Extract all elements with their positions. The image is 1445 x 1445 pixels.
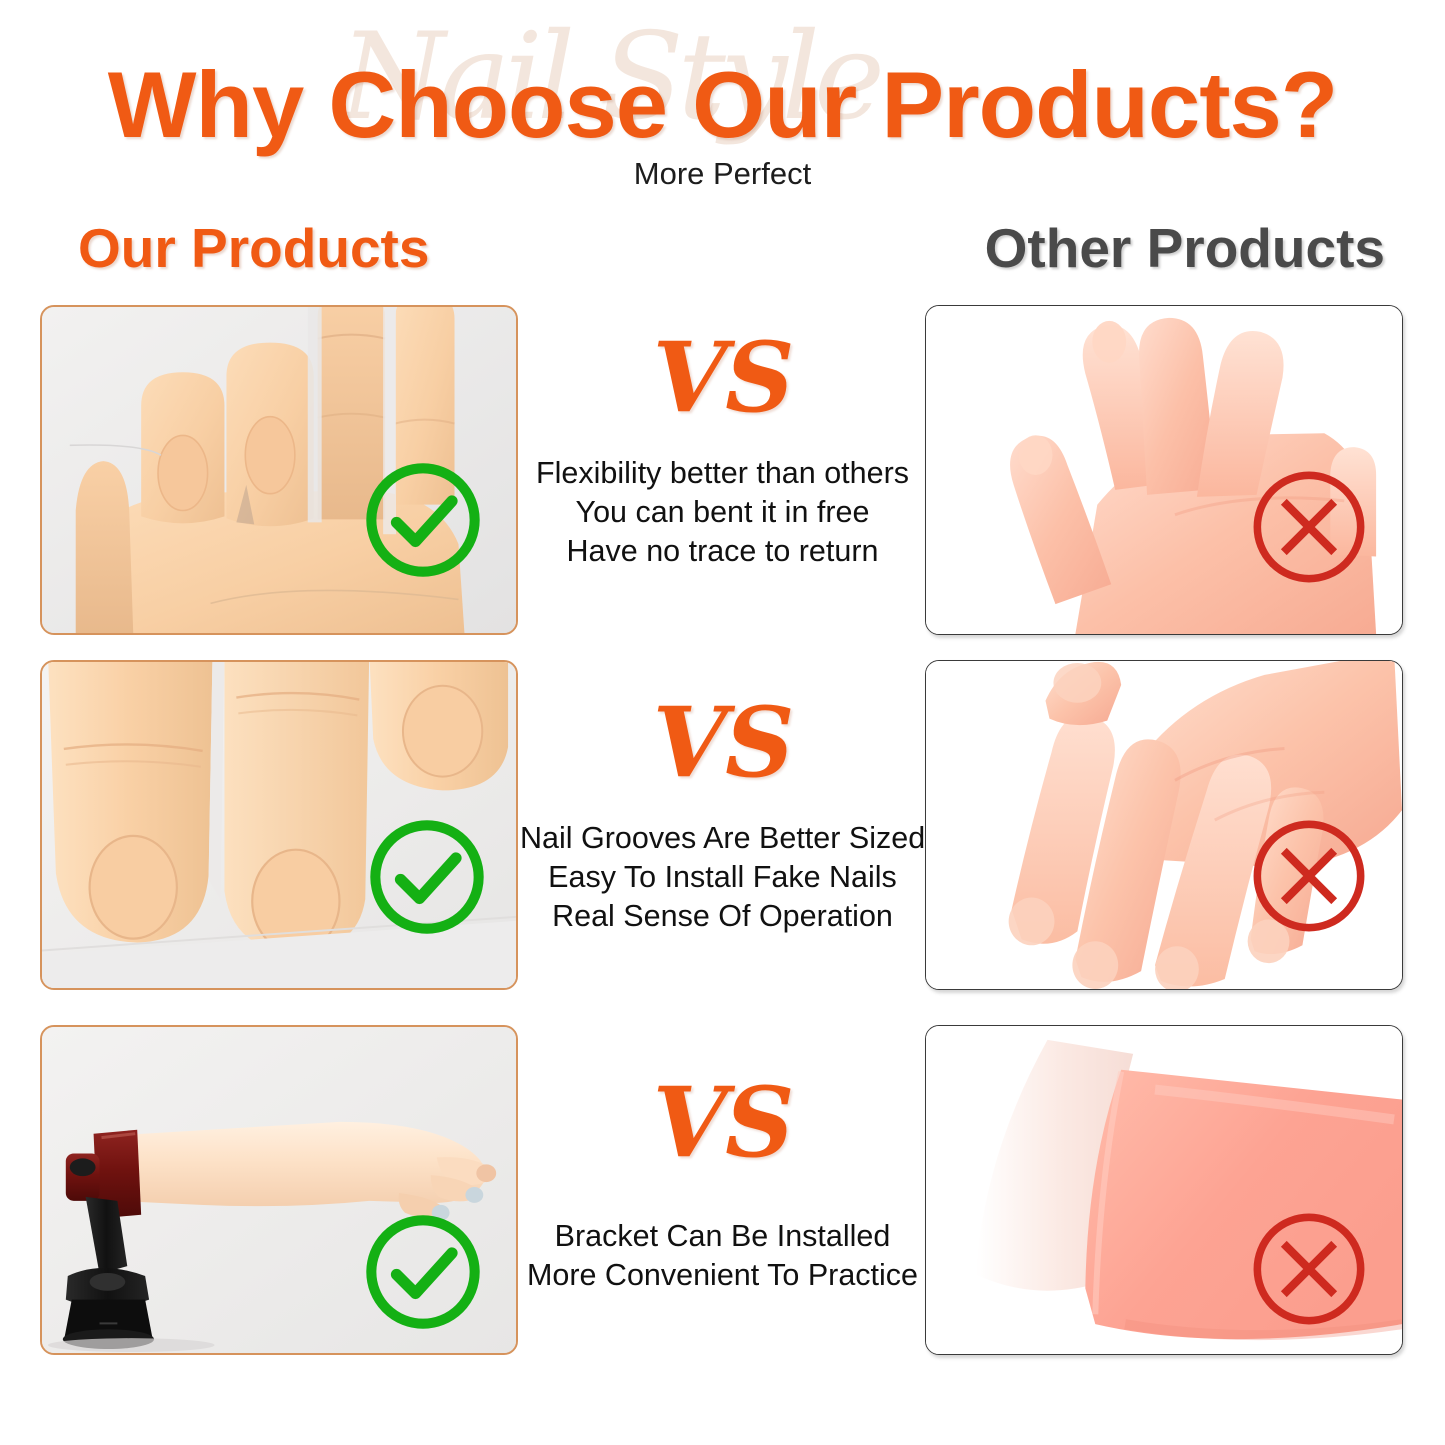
our-product-card-row1 (40, 305, 518, 635)
infographic-page: Nail Style Why Choose Our Products? More… (0, 0, 1445, 1445)
red-cross-circle-badge (1246, 464, 1372, 590)
comparison-line: Have no trace to return (520, 532, 925, 571)
comparison-row2-middle: VS Nail Grooves Are Better Sized Easy To… (520, 695, 925, 936)
our-product-card-row3 (40, 1025, 518, 1355)
other-product-card-row2 (925, 660, 1403, 990)
comparison-row3-middle: VS Bracket Can Be Installed More Conveni… (520, 1075, 925, 1295)
page-title: Why Choose Our Products? (0, 56, 1445, 155)
vs-label-row2: VS (520, 695, 925, 791)
comparison-line: Easy To Install Fake Nails (520, 858, 925, 897)
other-product-card-row3 (925, 1025, 1403, 1355)
comparison-line: Nail Grooves Are Better Sized (520, 819, 925, 858)
column-heading-our-products: Our Products (78, 218, 429, 279)
column-heading-other-products: Other Products (985, 218, 1385, 279)
green-check-circle-badge (364, 814, 490, 940)
vs-label-row3: VS (520, 1075, 925, 1171)
comparison-text-row2: Nail Grooves Are Better Sized Easy To In… (520, 819, 925, 936)
comparison-text-row3: Bracket Can Be Installed More Convenient… (520, 1217, 925, 1295)
green-check-circle-badge (360, 1209, 486, 1335)
green-check-circle-badge (360, 457, 486, 583)
comparison-line: Flexibility better than others (520, 454, 925, 493)
comparison-row1-middle: VS Flexibility better than others You ca… (520, 330, 925, 571)
comparison-text-row1: Flexibility better than others You can b… (520, 454, 925, 571)
comparison-line: More Convenient To Practice (520, 1256, 925, 1295)
page-subtitle: More Perfect (0, 156, 1445, 192)
comparison-line: Bracket Can Be Installed (520, 1217, 925, 1256)
comparison-line: You can bent it in free (520, 493, 925, 532)
comparison-line: Real Sense Of Operation (520, 897, 925, 936)
our-product-card-row2 (40, 660, 518, 990)
red-cross-circle-badge (1246, 813, 1372, 939)
other-product-card-row1 (925, 305, 1403, 635)
vs-label-row1: VS (520, 330, 925, 426)
red-cross-circle-badge (1246, 1206, 1372, 1332)
